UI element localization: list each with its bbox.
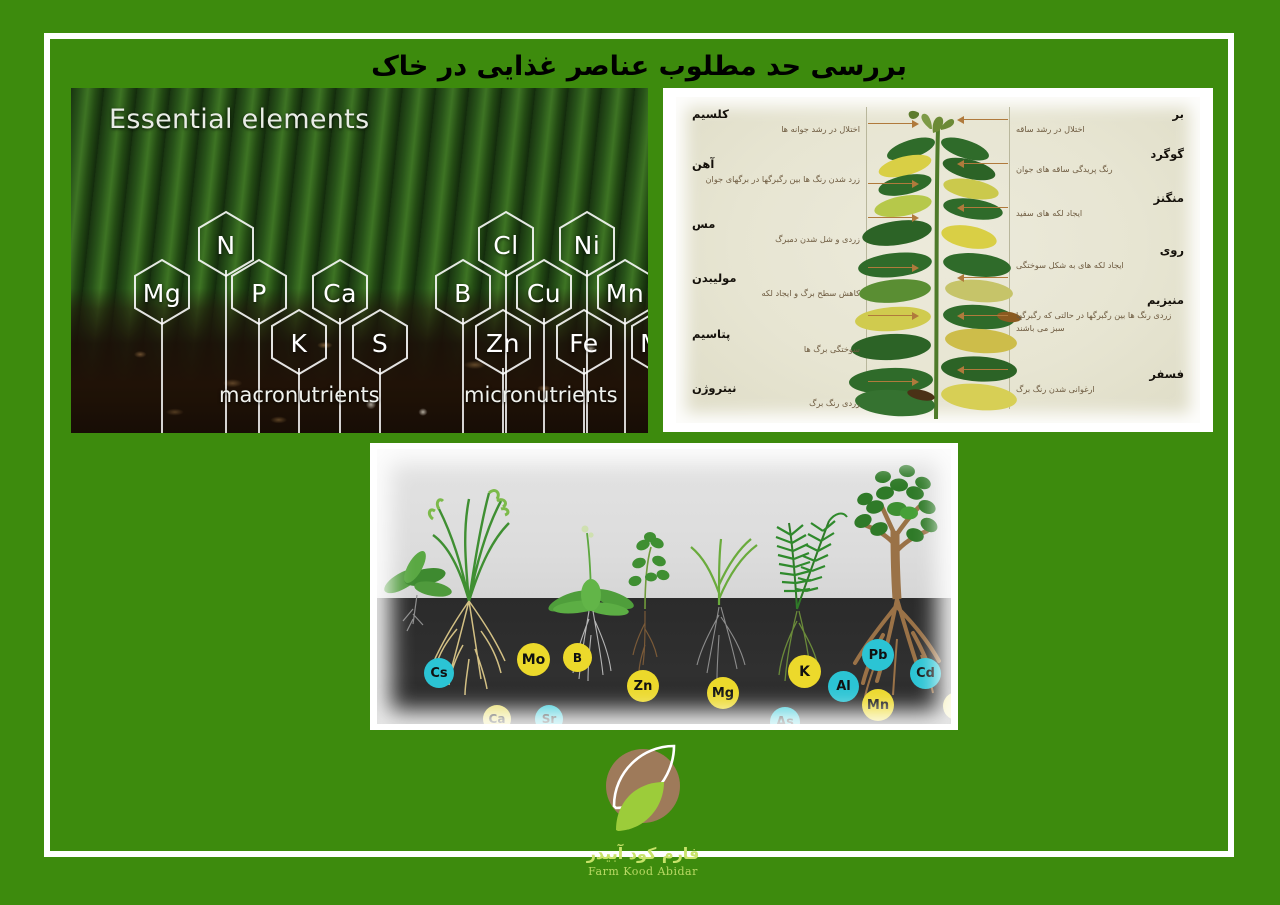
nutrient-name: نیتروژن (692, 381, 860, 395)
hex-stem-mn (624, 318, 626, 433)
deficiency-entry-left-2: گوگردرنگ پریدگی ساقه های جوان (1016, 147, 1184, 176)
deficiency-entry-left-6: فسفرارغوانی شدن رنگ برگ (1016, 367, 1184, 396)
hex-stem-n (225, 270, 227, 433)
arrow-left-3 (964, 207, 1008, 208)
deficiency-symptom: ایجاد لکه های سفید (1016, 207, 1184, 219)
hex-stem-mg (161, 318, 163, 433)
deficiency-symptom: ارغوانی شدن رنگ برگ (1016, 383, 1184, 395)
arrow-right-1 (868, 123, 912, 124)
deficiency-symptom: اختلال در رشد ساقه (1016, 123, 1184, 135)
hexagon-element-group: NMgPCaKSClNiBCuMnZnFeMo (71, 88, 648, 433)
element-bubble-pb: Pb (862, 639, 894, 671)
arrow-left-2 (964, 163, 1008, 164)
element-bubble-cs: Cs (424, 658, 454, 688)
deficiency-symptom: رنگ پریدگی ساقه های جوان (1016, 163, 1184, 175)
nutrient-name: فسفر (1016, 367, 1184, 381)
page-title-bar: بررسی حد مطلوب عناصر غذایی در خاک (44, 46, 1234, 86)
element-bubble-b: B (563, 643, 592, 672)
nutrient-name: مولیبدن (692, 271, 860, 285)
deficiency-entry-right-6: نیتروژنزردی رنگ برگ (692, 381, 860, 410)
arrow-right-5 (868, 315, 912, 316)
deficiency-entry-right-3: مسزردی و شل شدن دمبرگ (692, 217, 860, 246)
essential-elements-image: Essential elements NMgPCaKSClNiBCuMnZnFe… (71, 88, 648, 433)
element-hex-fe: Fe (553, 308, 615, 378)
nutrient-name: مس (692, 217, 860, 231)
micronutrients-label: micronutrients (464, 383, 618, 407)
deficiency-symptom: زرد شدن رنگ ها بین رگبرگها در برگهای جوا… (692, 173, 860, 185)
arrow-right-6 (868, 381, 912, 382)
logo-name-fa: فارم کود آبیدر (578, 844, 708, 863)
soil-elements-image: CsMoBZnCaSrMgKPbAlMnCdAsF (370, 443, 958, 730)
hexagon-outline: Mg (131, 258, 193, 328)
nutrient-name: پتاسیم (692, 327, 860, 341)
element-bubble-k: K (788, 655, 821, 688)
hexagon-outline: K (268, 308, 330, 378)
leaf-logo-icon (590, 736, 696, 842)
brand-logo: فارم کود آبیدر Farm Kood Abidar (578, 736, 708, 886)
arrow-left-5 (964, 315, 1008, 316)
hex-stem-ca (339, 318, 341, 433)
deficiency-column-right: کلسیماختلال در رشد جوانه هاآهنزرد شدن رن… (692, 105, 860, 415)
plant-illustration (833, 103, 1043, 423)
deficiency-entry-right-1: کلسیماختلال در رشد جوانه ها (692, 107, 860, 136)
deficiency-symptom: کاهش سطح برگ و ایجاد لکه (692, 287, 860, 299)
deficiency-entry-right-5: پتاسیمسوختگی برگ ها (692, 327, 860, 356)
hexagon-outline: S (349, 308, 411, 378)
element-bubble-zn: Zn (627, 670, 659, 702)
deficiency-entry-left-4: رویایجاد لکه های به شکل سوختگی (1016, 243, 1184, 272)
arrow-right-2 (868, 183, 912, 184)
nutrient-name: منگنز (1016, 191, 1184, 205)
nutrient-name: روی (1016, 243, 1184, 257)
logo-name-en: Farm Kood Abidar (578, 865, 708, 878)
deficiency-entry-right-2: آهنزرد شدن رنگ ها بین رگبرگها در برگهای … (692, 157, 860, 186)
deficiency-symptom: ایجاد لکه های به شکل سوختگی (1016, 259, 1184, 271)
plants-and-roots-svg (377, 449, 951, 724)
element-hex-mg: Mg (131, 258, 193, 328)
nutrient-name: منیزیم (1016, 293, 1184, 307)
soil-scene: CsMoBZnCaSrMgKPbAlMnCdAsF (377, 449, 951, 724)
element-symbol-s: S (349, 308, 411, 378)
hex-stem-p (258, 318, 260, 433)
deficiency-entry-left-1: براختلال در رشد ساقه (1016, 107, 1184, 136)
hex-stem-b (462, 318, 464, 433)
deficiency-symptom: سوختگی برگ ها (692, 343, 860, 355)
element-bubble-al: Al (828, 671, 859, 702)
hexagon-outline: Fe (553, 308, 615, 378)
element-symbol-mg: Mg (131, 258, 193, 328)
element-hex-s: S (349, 308, 411, 378)
arrow-right-3 (868, 217, 912, 218)
deficiency-symptom: زردی و شل شدن دمبرگ (692, 233, 860, 245)
arrow-left-4 (964, 277, 1008, 278)
element-symbol-mo: Mo (628, 308, 648, 378)
arrow-left-1 (964, 119, 1008, 120)
element-symbol-k: K (268, 308, 330, 378)
nutrient-name: بر (1016, 107, 1184, 121)
deficiency-entry-right-4: مولیبدنکاهش سطح برگ و ایجاد لکه (692, 271, 860, 300)
element-bubble-mg: Mg (707, 677, 739, 709)
element-hex-k: K (268, 308, 330, 378)
deficiency-symptom: اختلال در رشد جوانه ها (692, 123, 860, 135)
element-hex-mo: Mo (628, 308, 648, 378)
arrow-right-4 (868, 267, 912, 268)
hexagon-outline: Zn (472, 308, 534, 378)
element-bubble-mo: Mo (517, 643, 550, 676)
deficiency-symptom: زردی رنگ ها بین رگبرگها در حالتی که رگبر… (1016, 309, 1184, 334)
element-symbol-fe: Fe (553, 308, 615, 378)
diagram-parchment-background: براختلال در رشد ساقهگوگردرنگ پریدگی ساقه… (676, 97, 1200, 423)
nutrient-name: کلسیم (692, 107, 860, 121)
hex-stem-cu (543, 318, 545, 433)
element-symbol-zn: Zn (472, 308, 534, 378)
nutrient-name: گوگرد (1016, 147, 1184, 161)
page-title: بررسی حد مطلوب عناصر غذایی در خاک (371, 51, 907, 82)
logo-svg (590, 736, 696, 842)
deficiency-entry-left-5: منیزیمزردی رنگ ها بین رگبرگها در حالتی ک… (1016, 293, 1184, 334)
deficiency-entry-left-3: منگنزایجاد لکه های سفید (1016, 191, 1184, 220)
arrow-left-6 (964, 369, 1008, 370)
plant-svg (833, 103, 1043, 423)
nutrient-deficiency-diagram: براختلال در رشد ساقهگوگردرنگ پریدگی ساقه… (663, 88, 1213, 432)
hexagon-outline: Mo (628, 308, 648, 378)
deficiency-column-left: براختلال در رشد ساقهگوگردرنگ پریدگی ساقه… (1016, 105, 1184, 415)
macronutrients-label: macronutrients (219, 383, 380, 407)
deficiency-symptom: زردی رنگ برگ (692, 397, 860, 409)
element-hex-zn: Zn (472, 308, 534, 378)
nutrient-name: آهن (692, 157, 860, 171)
element-bubble-cd: Cd (910, 658, 941, 689)
element-bubble-mn: Mn (862, 689, 894, 721)
